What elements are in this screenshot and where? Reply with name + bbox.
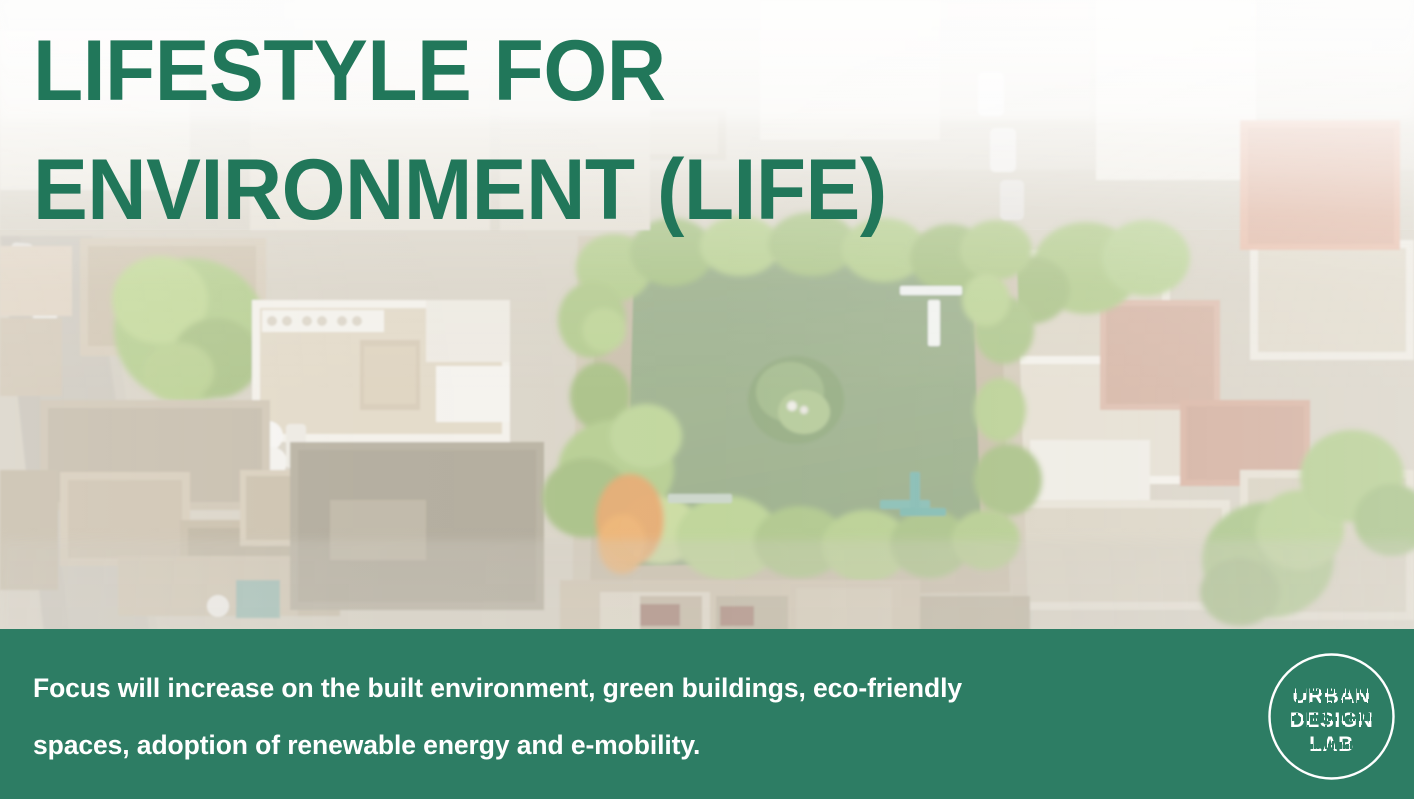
slide-root: LIFESTYLE FOR ENVIRONMENT (LIFE) Focus w… [0, 0, 1414, 799]
caption-text: Focus will increase on the built environ… [33, 660, 1233, 774]
logo-mark: URBAN DESIGN LAB [1266, 651, 1397, 782]
page-title: LIFESTYLE FOR ENVIRONMENT (LIFE) [33, 12, 1103, 249]
caption-line-2: spaces, adoption of renewable energy and… [33, 730, 700, 760]
caption-bar: Focus will increase on the built environ… [0, 629, 1414, 799]
urban-design-lab-logo[interactable]: URBAN DESIGN LAB [1266, 651, 1397, 782]
logo-wordmark [1266, 651, 1397, 782]
caption-line-1: Focus will increase on the built environ… [33, 673, 962, 703]
